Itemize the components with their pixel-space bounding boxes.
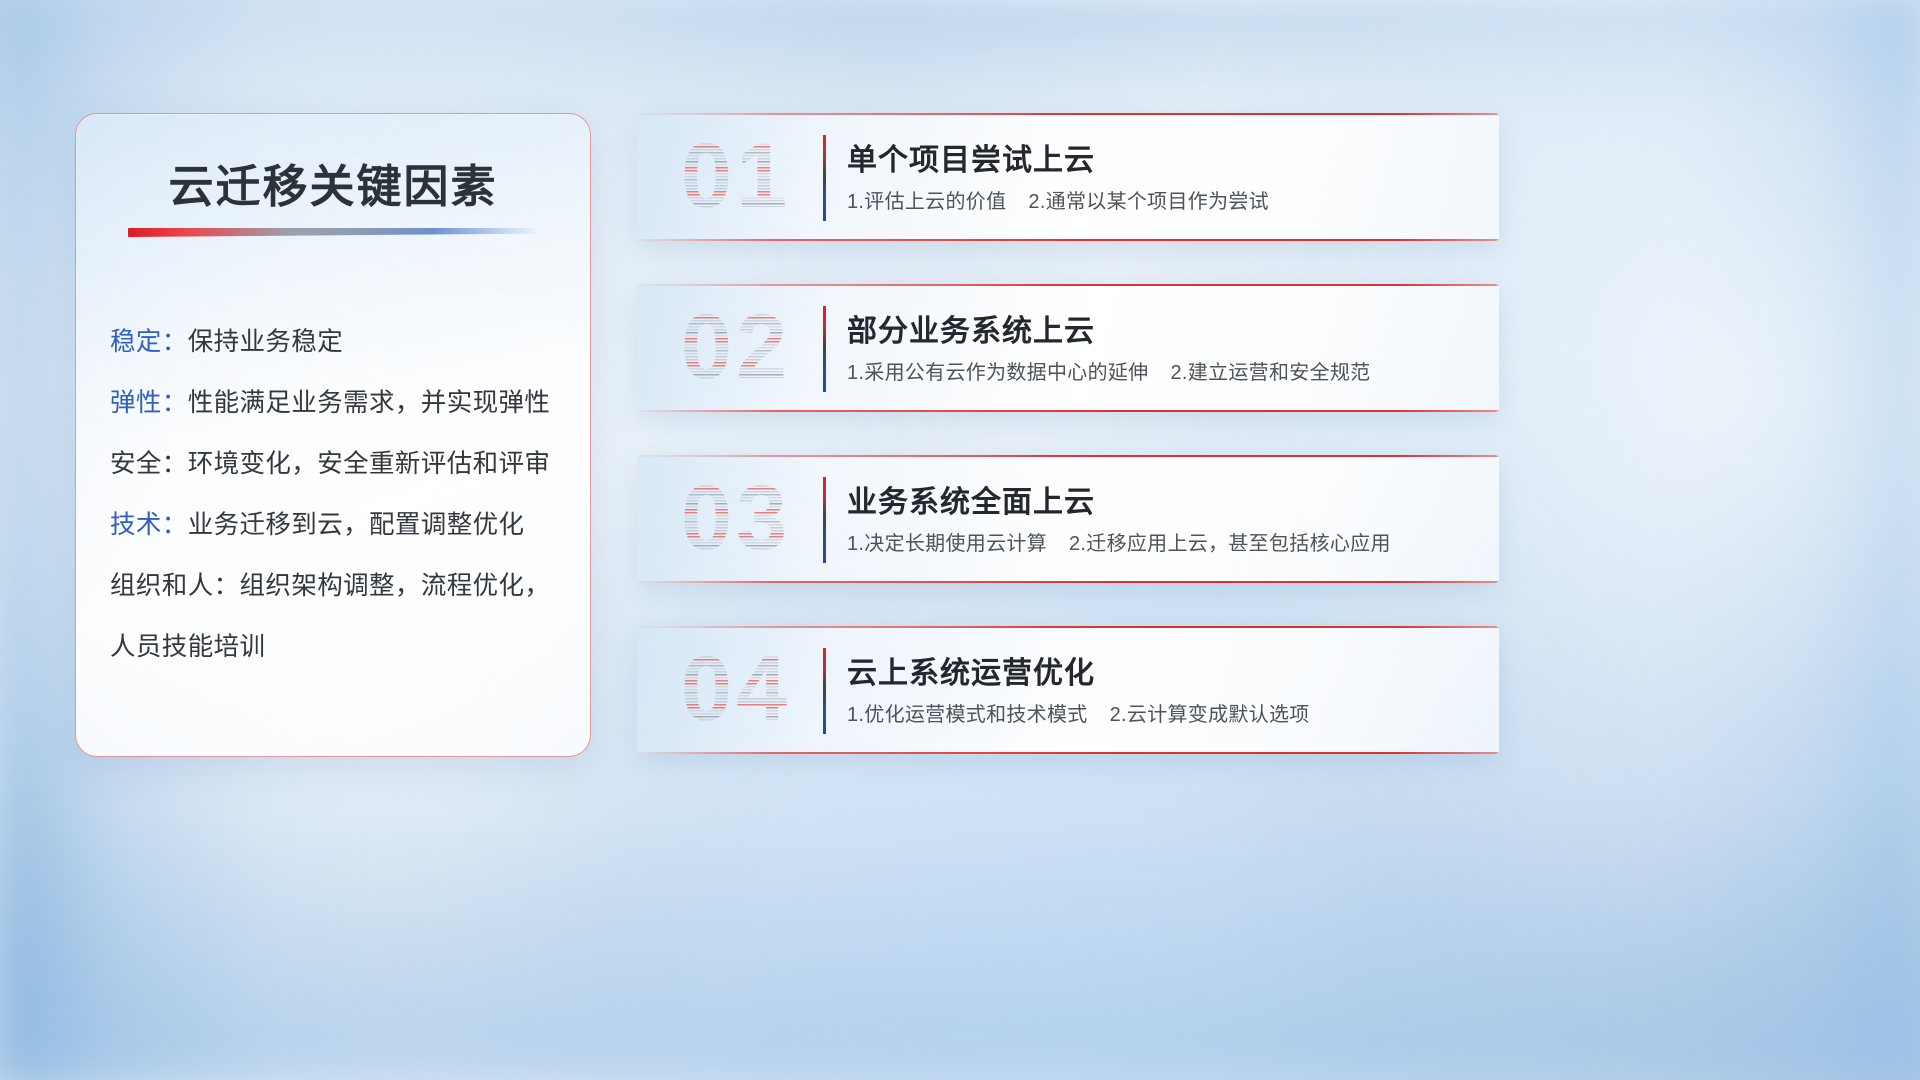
step-divider-bar: [823, 135, 826, 221]
factor-value: 环境变化，安全重新评估和评审: [188, 443, 551, 480]
factor-row: 人员技能培训: [110, 614, 568, 675]
step-point-2: 2.通常以某个项目作为尝试: [1028, 191, 1269, 213]
factor-row: 弹性：性能满足业务需求，并实现弹性: [110, 370, 568, 431]
step-divider-bar: [823, 648, 826, 734]
step-card[interactable]: 04云上系统运营优化1.优化运营模式和技术模式2.云计算变成默认选项: [637, 626, 1499, 754]
step-subtitle: 1.决定长期使用云计算2.迁移应用上云，甚至包括核心应用: [847, 527, 1391, 556]
step-card[interactable]: 01单个项目尝试上云1.评估上云的价值2.通常以某个项目作为尝试: [637, 113, 1499, 241]
step-title: 部分业务系统上云: [847, 306, 1095, 350]
slide-stage: 云迁移关键因素 稳定：保持业务稳定弹性：性能满足业务需求，并实现弹性安全：环境变…: [0, 0, 1920, 1080]
step-number-01-icon: 01: [661, 127, 811, 227]
step-divider-bar: [823, 477, 826, 563]
key-factors-panel: 云迁移关键因素 稳定：保持业务稳定弹性：性能满足业务需求，并实现弹性安全：环境变…: [75, 113, 591, 757]
step-point-1: 1.评估上云的价值: [847, 191, 1006, 213]
step-card[interactable]: 03业务系统全面上云1.决定长期使用云计算2.迁移应用上云，甚至包括核心应用: [637, 455, 1499, 583]
step-number-03-icon: 03: [661, 469, 811, 569]
factor-value: 业务迁移到云，配置调整优化: [188, 504, 525, 541]
factor-value: 组织架构调整，流程优化，: [240, 565, 551, 602]
step-point-2: 2.云计算变成默认选项: [1110, 704, 1310, 726]
step-title: 业务系统全面上云: [847, 477, 1095, 521]
factor-value: 人员技能培训: [110, 626, 265, 663]
step-subtitle: 1.优化运营模式和技术模式2.云计算变成默认选项: [847, 698, 1310, 727]
factor-key: 安全：: [110, 443, 188, 480]
step-title: 单个项目尝试上云: [847, 135, 1095, 179]
factor-row: 技术：业务迁移到云，配置调整优化: [110, 492, 568, 553]
step-card[interactable]: 02部分业务系统上云1.采用公有云作为数据中心的延伸2.建立运营和安全规范: [637, 284, 1499, 412]
factor-row: 稳定：保持业务稳定: [110, 309, 568, 370]
step-point-2: 2.迁移应用上云，甚至包括核心应用: [1069, 533, 1391, 555]
factor-key: 弹性：: [110, 382, 188, 419]
step-number-04-icon: 04: [661, 640, 811, 740]
factor-value: 保持业务稳定: [188, 321, 343, 358]
step-point-1: 1.决定长期使用云计算: [847, 533, 1047, 555]
factor-row: 组织和人：组织架构调整，流程优化，: [110, 553, 568, 614]
factor-key: 技术：: [110, 504, 188, 541]
factor-value: 性能满足业务需求，并实现弹性: [188, 382, 551, 419]
step-subtitle: 1.评估上云的价值2.通常以某个项目作为尝试: [847, 185, 1269, 214]
factor-key: 组织和人：: [110, 565, 240, 602]
page-title: 云迁移关键因素: [76, 150, 590, 215]
step-number-02-icon: 02: [661, 298, 811, 398]
step-point-1: 1.采用公有云作为数据中心的延伸: [847, 362, 1148, 384]
step-point-1: 1.优化运营模式和技术模式: [847, 704, 1088, 726]
factor-list: 稳定：保持业务稳定弹性：性能满足业务需求，并实现弹性安全：环境变化，安全重新评估…: [110, 309, 568, 675]
step-point-2: 2.建立运营和安全规范: [1170, 362, 1370, 384]
title-underline-rule: [128, 228, 540, 237]
step-subtitle: 1.采用公有云作为数据中心的延伸2.建立运营和安全规范: [847, 356, 1370, 385]
factor-row: 安全：环境变化，安全重新评估和评审: [110, 431, 568, 492]
factor-key: 稳定：: [110, 321, 188, 358]
step-title: 云上系统运营优化: [847, 648, 1095, 692]
step-divider-bar: [823, 306, 826, 392]
